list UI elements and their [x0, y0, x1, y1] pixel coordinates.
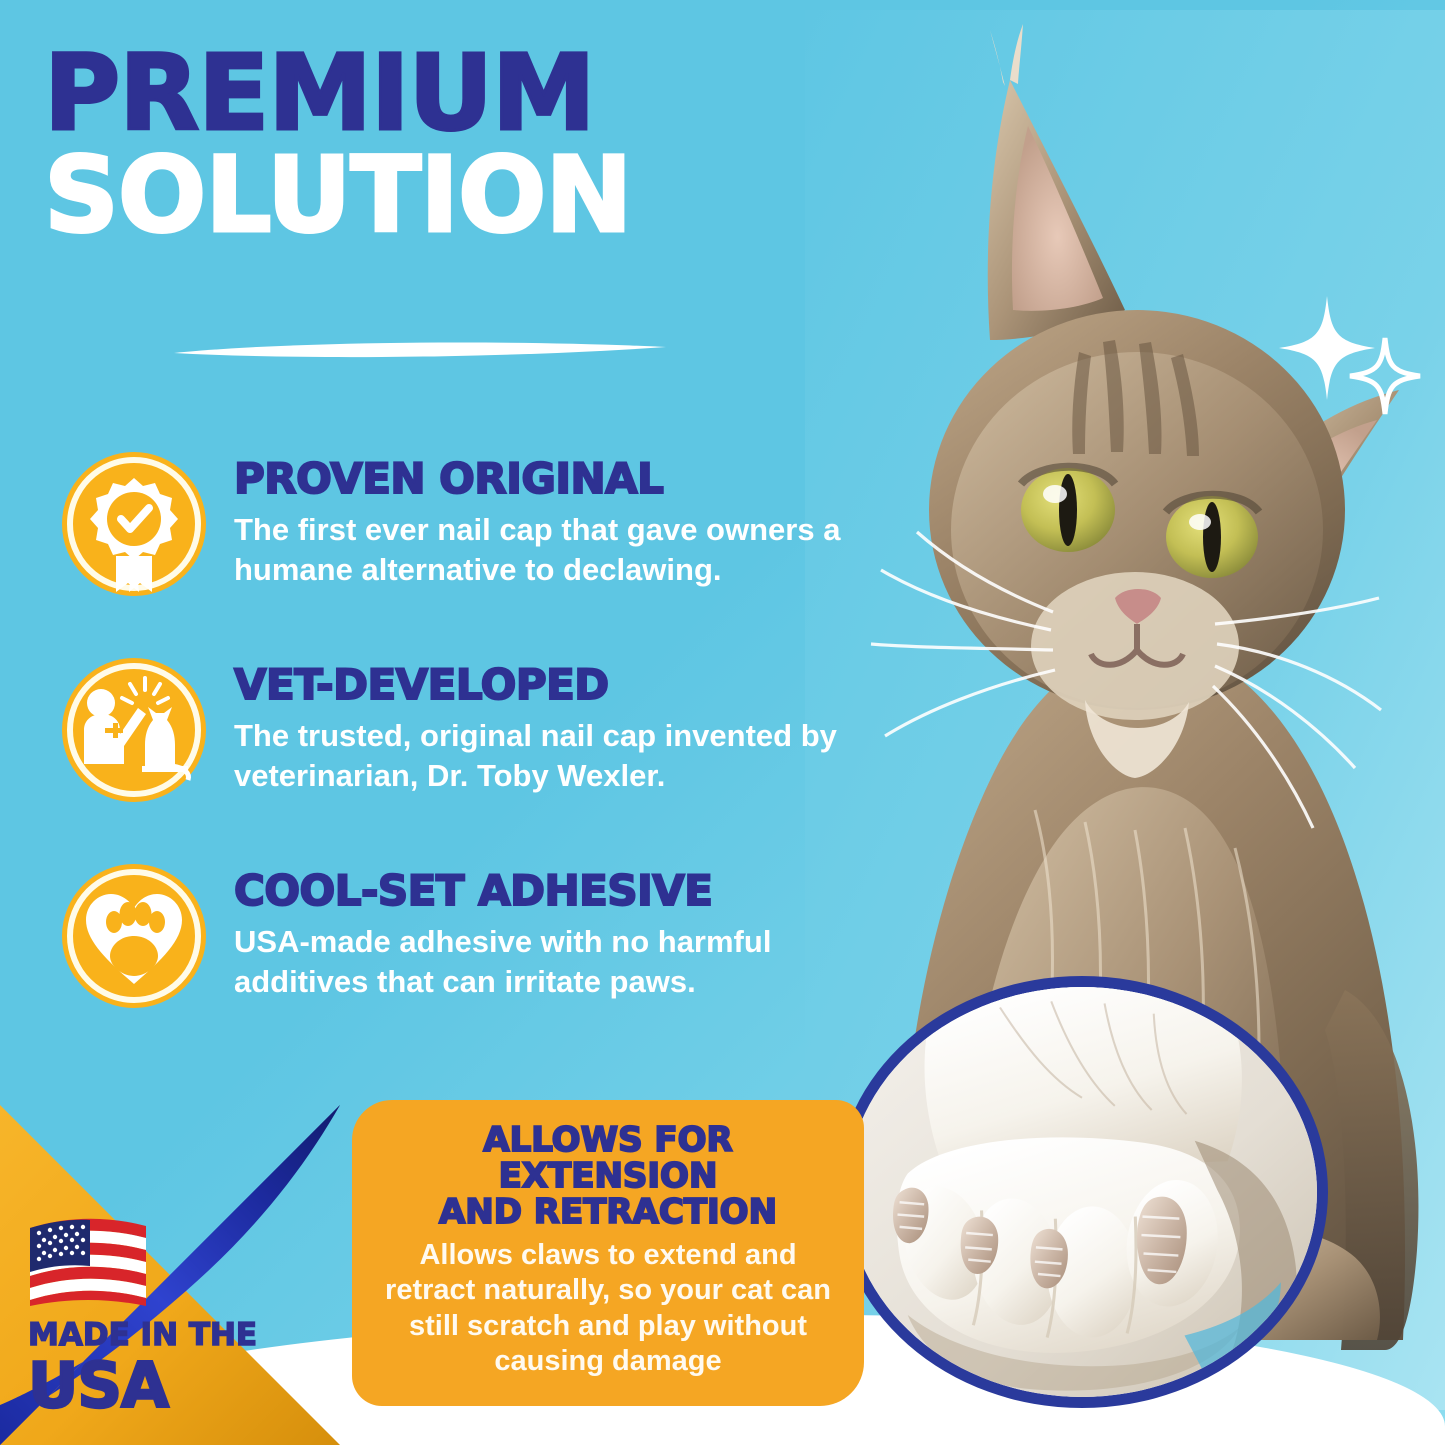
feature-title: VET-DEVELOPED [234, 664, 848, 706]
feature-item: VET-DEVELOPED The trusted, original nail… [58, 654, 848, 806]
usa-badge-line-1: MADE IN THE [28, 1320, 258, 1351]
headline-block: PREMIUM SOLUTION [44, 46, 844, 244]
usa-badge-line-2: USA [28, 1355, 258, 1417]
brush-underline-icon [170, 336, 670, 362]
feature-title: PROVEN ORIGINAL [234, 458, 848, 500]
callout-box: ALLOWS FOR EXTENSION AND RETRACTION Allo… [352, 1100, 864, 1406]
product-infographic: PREMIUM SOLUTION PROVEN ORIGINAL The fir… [0, 0, 1445, 1445]
vet-highfive-cat-icon [58, 654, 210, 806]
sparkle-icon [1279, 296, 1375, 400]
feature-body: USA-made adhesive with no harmful additi… [234, 922, 848, 1001]
paw-closeup-photo [836, 976, 1328, 1408]
feature-item: PROVEN ORIGINAL The first ever nail cap … [58, 448, 848, 600]
usa-flag-icon [28, 1214, 176, 1306]
callout-title-line-1: ALLOWS FOR EXTENSION [374, 1122, 842, 1194]
award-ribbon-icon [58, 448, 210, 600]
callout-title-line-2: AND RETRACTION [374, 1194, 842, 1230]
feature-item: COOL-SET ADHESIVE USA-made adhesive with… [58, 860, 848, 1012]
feature-body: The first ever nail cap that gave owners… [234, 510, 848, 589]
feature-title: COOL-SET ADHESIVE [234, 870, 848, 912]
headline-line-1: PREMIUM [44, 46, 844, 142]
sparkle-group [1275, 290, 1425, 420]
callout-body: Allows claws to extend and retract natur… [374, 1238, 842, 1380]
made-in-usa-badge: MADE IN THE USA [0, 1105, 340, 1445]
usa-badge-content: MADE IN THE USA [28, 1214, 258, 1417]
headline-line-2: SOLUTION [44, 146, 844, 245]
heart-paw-icon [58, 860, 210, 1012]
feature-body: The trusted, original nail cap invented … [234, 716, 848, 795]
feature-list: PROVEN ORIGINAL The first ever nail cap … [58, 448, 848, 1066]
callout-title: ALLOWS FOR EXTENSION AND RETRACTION [374, 1122, 842, 1230]
